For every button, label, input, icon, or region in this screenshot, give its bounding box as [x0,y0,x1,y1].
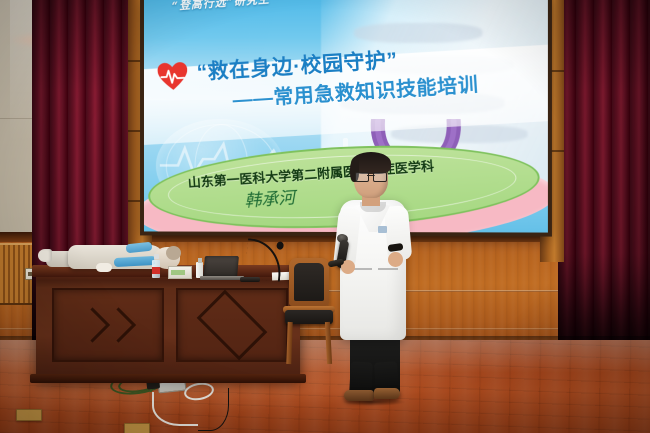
slide-kicker: “登高行远”研究生 [172,0,271,13]
name-badge [378,226,387,233]
slide-speaker-signature: 韩承河 [243,183,295,211]
laptop-screen [203,256,239,277]
first-aid-supply-box [168,266,192,279]
lab-coat-pocket [378,268,398,270]
brown-leather-shoes [374,388,400,399]
microphone-base [240,277,260,282]
speaker-hand [388,252,403,267]
curtain-shading [558,0,650,362]
laptop[interactable] [200,256,240,280]
podium-panel [176,288,288,362]
water-bottle [152,254,160,278]
chair-back [289,258,329,306]
brown-leather-shoes [344,390,374,401]
chair-leg [286,322,292,364]
speaker-presenter [330,152,416,400]
manikin-hair [166,246,181,260]
podium-base [30,374,306,383]
podium [36,272,300,378]
manikin-feet [38,249,52,262]
laptop-base [200,276,244,280]
floor-outlet-plate [124,423,150,433]
podium-panel [52,288,164,362]
floor-outlet-plate [16,409,42,421]
manikin-hand [96,263,112,272]
wooden-chair[interactable] [283,258,333,364]
lecture-photo-scene: “登高行远”研究生 “救在身边·校园守护” ——常用急救知识技能培训 山东第一医… [0,0,650,433]
stage-curtain-right [558,0,650,362]
eyeglasses [355,172,387,180]
gooseneck-microphone [246,240,282,280]
